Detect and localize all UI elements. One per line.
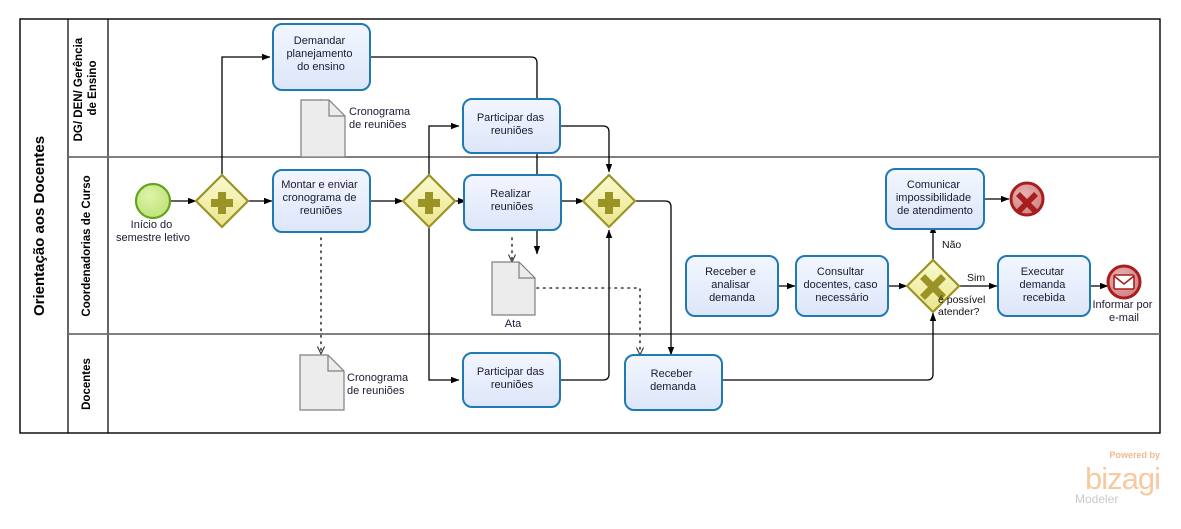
task-label: Receber e analisar demanda xyxy=(705,266,759,304)
bpmn-diagram-canvas: Orientação aos Docentes DG/ DEN/ Gerênci… xyxy=(0,0,1181,529)
data-object-label: Cronograma de reuniões xyxy=(347,372,411,397)
task-participar-das-reunioes-dg[interactable]: Participar das reuniões xyxy=(463,99,560,153)
task-receber-demanda[interactable]: Receber demanda xyxy=(625,355,722,410)
lane-label-coordenadorias: Coordenadorias de Curso xyxy=(81,175,93,316)
data-object-label: Cronograma de reuniões xyxy=(349,106,413,131)
task-montar-e-enviar-cronograma[interactable]: Montar e enviar cronograma de reuniões xyxy=(273,170,370,232)
data-object-label: Ata xyxy=(505,318,522,330)
task-label: Receber demanda xyxy=(650,368,697,393)
task-label: Executar demanda recebida xyxy=(1020,266,1069,304)
bizagi-product-label: Modeler xyxy=(1075,492,1118,506)
envelope-icon xyxy=(1114,275,1134,289)
flow-label-nao: Não xyxy=(942,239,961,251)
flow-label-sim: Sim xyxy=(967,272,985,284)
end-event-terminate[interactable] xyxy=(1011,183,1043,215)
task-executar-demanda-recebida[interactable]: Executar demanda recebida xyxy=(998,256,1090,316)
task-consultar-docentes[interactable]: Consultar docentes, caso necessário xyxy=(796,256,888,316)
task-label: Comunicar impossibilidade de atendimento xyxy=(896,179,974,217)
bizagi-logo-text: bizagi xyxy=(1085,461,1160,496)
bizagi-watermark: Powered by bizagi Modeler xyxy=(1075,450,1160,506)
task-receber-e-analisar-demanda[interactable]: Receber e analisar demanda xyxy=(686,256,778,316)
task-demandar-planejamento[interactable]: Demandar planejamento do ensino xyxy=(273,24,370,90)
task-label: Realizar reuniões xyxy=(490,188,533,213)
pool-orientacao-aos-docentes: Orientação aos Docentes DG/ DEN/ Gerênci… xyxy=(20,19,1160,433)
task-comunicar-impossibilidade[interactable]: Comunicar impossibilidade de atendimento xyxy=(886,169,984,229)
pool-title: Orientação aos Docentes xyxy=(31,136,48,316)
task-participar-das-reunioes-docentes[interactable]: Participar das reuniões xyxy=(463,353,560,407)
powered-by-label: Powered by xyxy=(1109,450,1160,460)
task-realizar-reunioes[interactable]: Realizar reuniões xyxy=(464,175,561,230)
lane-label-docentes: Docentes xyxy=(81,358,93,410)
